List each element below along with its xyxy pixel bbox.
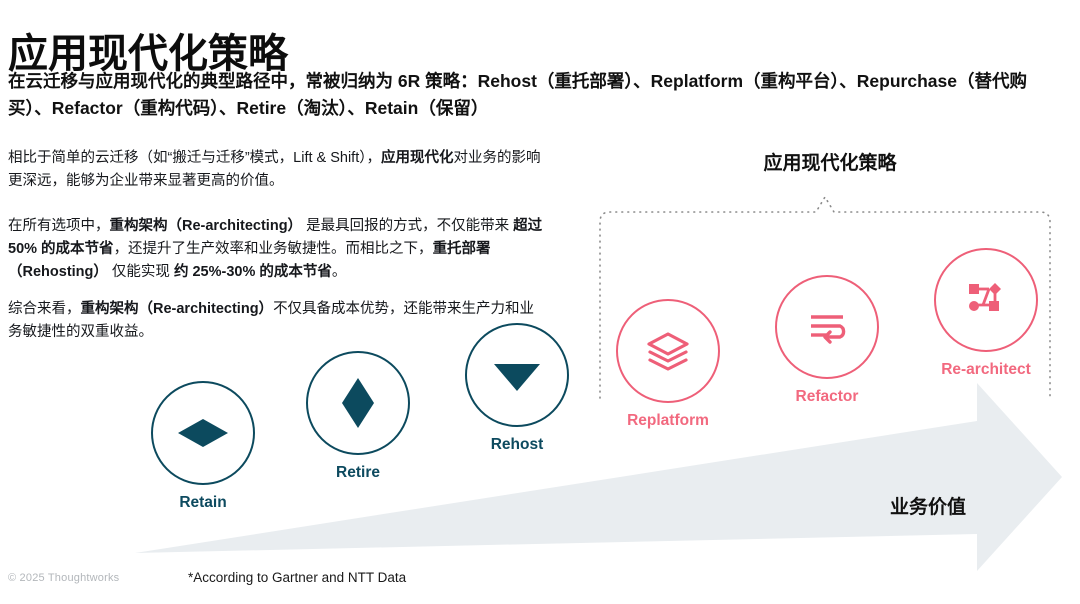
node-rehost[interactable]: Rehost	[465, 323, 569, 454]
node-retain[interactable]: Retain	[151, 381, 255, 512]
node-rearchitect[interactable]: Re-architect	[934, 248, 1038, 379]
tall-diamond-icon	[329, 374, 387, 432]
node-rearchitect-label: Re-architect	[934, 361, 1038, 379]
node-retire[interactable]: Retire	[306, 351, 410, 482]
node-retain-circle[interactable]	[151, 381, 255, 485]
diagram-title: 应用现代化策略	[700, 148, 960, 175]
node-retain-label: Retain	[151, 494, 255, 512]
node-graph-icon	[963, 277, 1009, 323]
down-triangle-icon	[488, 346, 546, 404]
flat-diamond-icon	[174, 404, 232, 462]
node-rearchitect-circle[interactable]	[934, 248, 1038, 352]
node-retire-circle[interactable]	[306, 351, 410, 455]
node-refactor-label: Refactor	[775, 388, 879, 406]
layers-stack-icon	[645, 328, 691, 374]
node-replatform[interactable]: Replatform	[616, 299, 720, 430]
text-wrap-arrow-icon	[804, 304, 850, 350]
node-refactor-circle[interactable]	[775, 275, 879, 379]
node-rehost-label: Rehost	[465, 436, 569, 454]
node-rehost-circle[interactable]	[465, 323, 569, 427]
node-retire-label: Retire	[306, 464, 410, 482]
node-replatform-circle[interactable]	[616, 299, 720, 403]
node-refactor[interactable]: Refactor	[775, 275, 879, 406]
business-value-label: 业务价值	[890, 492, 966, 519]
node-replatform-label: Replatform	[616, 412, 720, 430]
modernization-strategy-diagram: 业务价值 应用现代化策略 Retain Retire Rehost	[0, 0, 1080, 604]
